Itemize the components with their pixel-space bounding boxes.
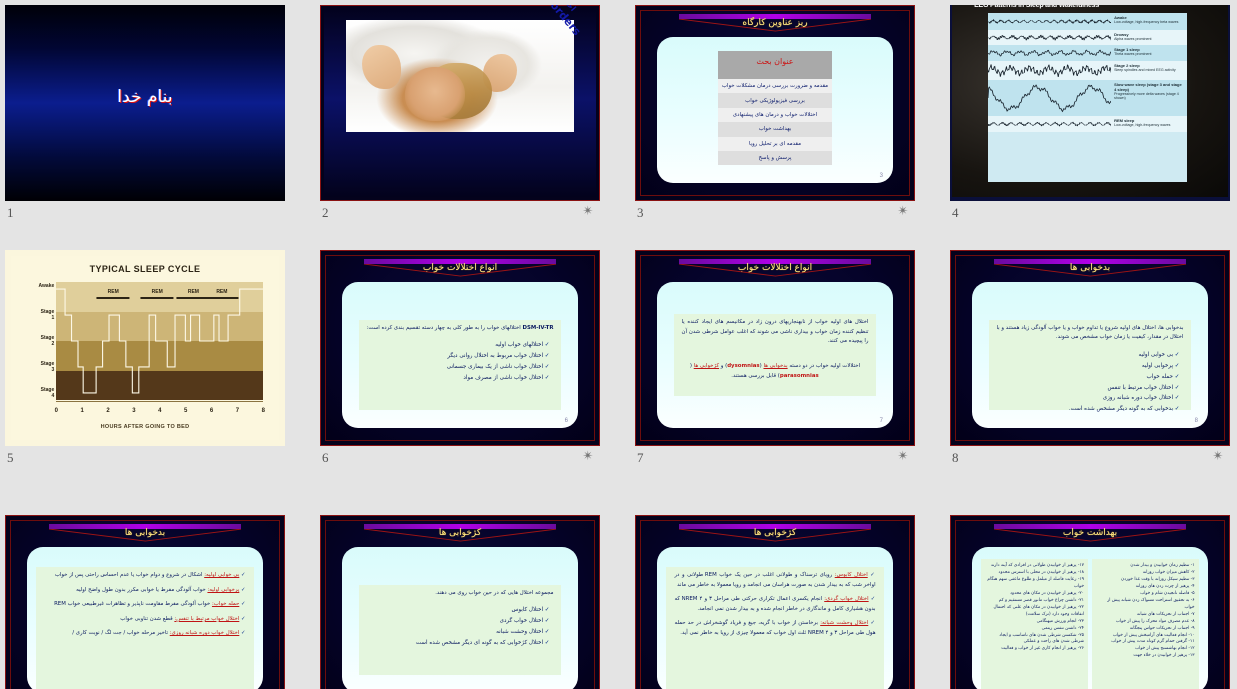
definition-list: ✓ بی خوابی اولیه: اشکال در شروع و دوام خ…	[36, 567, 253, 647]
slide-thumbnail[interactable]: بدخوابی ها ✓ بی خوابی اولیه: اشکال در شر…	[5, 515, 285, 689]
definition-term: اختلال خواب گردی:	[824, 596, 868, 602]
bullet-item: ✓ پرخوابی اولیه	[997, 361, 1180, 372]
slide-content-panel: DSM-IV-TR اختلالهای خواب را به طور کلی ب…	[342, 282, 578, 428]
check-icon: ✓	[1175, 374, 1180, 380]
slide-thumbnail-cell[interactable]: کژخوابی ها ✓ اختلال کابوس: رویای ترسناک …	[635, 515, 915, 689]
check-icon: ✓	[545, 640, 550, 646]
hygiene-item: ۲۰- پرهیز از خوابیدن در مکان های محدود	[985, 591, 1084, 598]
term-dysomnias-en: dysomnias	[727, 362, 759, 371]
slide-canvas: بدخوابی ها بدخوابی ها، اختلال های اولیه …	[950, 250, 1230, 446]
hygiene-item: ۱۲- انجام بهاشستج پیش از خواب	[1096, 646, 1195, 653]
definition-text: خواب آلودگی مفرط یا خوابی مکرر بدون طول …	[76, 587, 206, 593]
two-column-layout: ۱- تنظیم زمان خوابیدن و بیدار شدن۲- کاهش…	[981, 559, 1198, 689]
bullet-item: ✓ اختلال وحشت شبانه	[367, 627, 550, 638]
slide-inner-frame: انواع اختلالات خواب DSM-IV-TR اختلالهای …	[325, 255, 595, 441]
eeg-stage-desc: Sleep spindles and mixed EEG activity	[1114, 68, 1176, 72]
animation-star-icon[interactable]: ✴	[897, 450, 909, 462]
slide-title: بدخوابی ها	[956, 263, 1224, 273]
slide-title: انواع اختلالات خواب	[641, 263, 909, 273]
photo-face	[405, 67, 464, 121]
definition-item: ✓ پرخوابی اولیه: خواب آلودگی مفرط یا خوا…	[44, 586, 245, 595]
hygiene-item: ۸- عدم مصرف مواد محرک را پیش از خواب	[1096, 619, 1195, 626]
hypnogram-y-label: Awake	[39, 284, 55, 290]
hypnogram-y-label: Stage1	[41, 310, 55, 322]
content-pane: ✓ اختلال کابوس: رویای ترسناک و طولانی اغ…	[666, 567, 883, 689]
slide-inner-frame: ریز عناوین کارگاه عنوان بحث مقدمه و ضرور…	[640, 10, 910, 196]
check-icon: ✓	[871, 596, 876, 602]
check-icon: ✓	[241, 616, 246, 622]
content-pane: بدخوابی ها، اختلال های اولیه شروع یا تدا…	[989, 320, 1192, 411]
slide-page-number: 3	[880, 173, 883, 179]
slide-number: 5	[7, 450, 14, 466]
hygiene-item: ۲۴- داشتن تنفس ریتمی	[985, 626, 1084, 633]
slide-thumbnail-cell[interactable]: بدخوابی ها بدخوابی ها، اختلال های اولیه …	[950, 250, 1230, 476]
eeg-chart: Awake Low-voltage, high-frequency beta w…	[988, 13, 1187, 182]
slide-title: ریز عناوین کارگاه	[641, 18, 909, 28]
eeg-stage-desc: Theta waves prominent	[1114, 52, 1151, 56]
slide-title: بهداشت خواب	[956, 528, 1224, 538]
hygiene-item: ۲۲- پرهیز از خوابیدن در مکان های علنی که…	[985, 605, 1084, 619]
eeg-label: Slow wave sleep (stage 3 and stage 4 sle…	[1111, 80, 1187, 116]
slide-content-panel: اختلال های اولیه خواب از نابهنجاریهای در…	[657, 282, 893, 428]
slide-content-panel: عنوان بحث مقدمه و ضرورت بررسی درمان مشکل…	[657, 37, 893, 183]
slide-thumbnail-cell[interactable]: بدخوابی ها ✓ بی خوابی اولیه: اشکال در شر…	[5, 515, 285, 689]
slide-thumbnail-cell[interactable]: TYPICAL SLEEP CYCLE AwakeStage1Stage2Sta…	[5, 250, 285, 476]
slide-thumbnail-cell[interactable]: بنام خدا 1	[5, 5, 285, 231]
slide-canvas: ریز عناوین کارگاه عنوان بحث مقدمه و ضرور…	[635, 5, 915, 201]
check-icon: ✓	[241, 572, 246, 578]
bullets-intro: DSM-IV-TR اختلالهای خواب را به طور کلی ب…	[359, 320, 562, 337]
slide-inner-frame: بدخوابی ها ✓ بی خوابی اولیه: اشکال در شر…	[10, 520, 280, 689]
check-icon: ✓	[545, 342, 550, 348]
body-paragraph: اختلال های اولیه خواب از نابهنجاریهای در…	[674, 314, 877, 350]
check-icon: ✓	[241, 630, 246, 636]
eeg-waveform	[988, 30, 1111, 45]
definition-term: بی خوابی اولیه:	[204, 572, 239, 578]
photo-hand-left	[362, 45, 401, 90]
slide-thumbnail[interactable]: کژخوابی ها مجموعه اختلال هایی که در حین …	[320, 515, 600, 689]
definition-term: اختلال خواب مرتبط با تنفس:	[174, 616, 239, 622]
bullet-item: ✓ حمله خواب	[997, 372, 1180, 383]
slide-thumbnail-cell[interactable]: EEG Patterns in Sleep and Wakefulness Aw…	[950, 5, 1230, 231]
eeg-waveform	[988, 80, 1111, 116]
check-icon: ✓	[1175, 395, 1180, 401]
content-pane: DSM-IV-TR اختلالهای خواب را به طور کلی ب…	[359, 320, 562, 411]
slide-content-panel: ۱- تنظیم زمان خوابیدن و بیدار شدن۲- کاهش…	[972, 547, 1208, 689]
bullet-item: ✓ بی خوابی اولیه	[997, 350, 1180, 361]
eeg-waveform	[988, 61, 1111, 80]
slide-thumbnail-cell[interactable]: ریز عناوین کارگاه عنوان بحث مقدمه و ضرور…	[635, 5, 915, 231]
toc-row: بررسی فیزیولوژیکی خواب	[718, 93, 831, 107]
content-pane: مجموعه اختلال هایی که در حین خواب روی می…	[359, 585, 562, 676]
hygiene-item: ۵- فاصله نانجیدن شام و خواب	[1096, 591, 1195, 598]
slide-thumbnail[interactable]: ریز عناوین کارگاه عنوان بحث مقدمه و ضرور…	[635, 5, 915, 201]
slide-thumbnail-cell[interactable]: بهداشت خواب ۱- تنظیم زمان خوابیدن و بیدا…	[950, 515, 1230, 689]
hypnogram-x-tick: 2	[106, 408, 109, 414]
hygiene-item: ۱۷- پرهیز از خوابیدن طولانی در افرادی که…	[985, 563, 1084, 570]
check-icon: ✓	[1175, 363, 1180, 369]
terms-note: اختلالات اولیه خواب در دو دسته بدخوابی ه…	[674, 350, 877, 385]
check-icon: ✓	[241, 587, 246, 593]
slide-thumbnail[interactable]: اختلالات خواب Sleep Disorders	[320, 5, 600, 201]
hygiene-item: ۶- به تحقیق استراحت مسواک زدن شبانه پیش …	[1096, 598, 1195, 612]
eeg-row: Drowsy Alpha waves prominent	[988, 30, 1187, 45]
slide-canvas: بهداشت خواب ۱- تنظیم زمان خوابیدن و بیدا…	[950, 515, 1230, 689]
toc-row: مقدمه و ضرورت بررسی درمان مشکلات خواب	[718, 79, 831, 93]
bullet-item: ✓ بدخوابی که به گونه دیگر مشخص شده است.	[997, 404, 1180, 415]
check-icon: ✓	[871, 620, 876, 626]
eeg-slide-canvas: EEG Patterns in Sleep and Wakefulness Aw…	[950, 5, 1230, 201]
bullet-item: ✓ اختلال خواب مربوط به اختلال روانی دیگر	[367, 351, 550, 362]
content-pane: ✓ بی خوابی اولیه: اشکال در شروع و دوام خ…	[36, 567, 253, 689]
toc-row: اختلالات خواب و درمان های پیشنهادی	[718, 108, 831, 122]
eeg-label: Stage 1 sleep Theta waves prominent	[1111, 45, 1187, 61]
definition-item: ✓ حمله خواب: خواب آلودگی مفرط مقاومت ناپ…	[44, 600, 245, 609]
hygiene-item: ۴- پرهیز از چرت زدن های روزانه	[1096, 584, 1195, 591]
hypnogram-x-tick: 3	[132, 408, 135, 414]
hypnogram-trace	[56, 282, 263, 400]
hypnogram-y-label: Stage4	[41, 388, 55, 400]
eeg-waveform	[988, 116, 1111, 132]
eeg-stage-desc: Alpha waves prominent	[1114, 37, 1151, 41]
hygiene-item: ۱- تنظیم زمان خوابیدن و بیدار شدن	[1096, 563, 1195, 570]
check-icon: ✓	[241, 601, 246, 607]
eeg-waveform	[988, 45, 1111, 61]
definition-item: ✓ اختلال خواب دوره شبانه روزی: تاخیر مرح…	[44, 629, 245, 638]
bullet-list: ✓ اختلال کابوس✓ اختلال خواب گردی✓ اختلال…	[359, 602, 562, 654]
eeg-row: Stage 2 sleep Sleep spindles and mixed E…	[988, 61, 1187, 80]
term-dysomnias-fa: بدخوابی ها	[763, 363, 787, 369]
hypnogram-slide-canvas: TYPICAL SLEEP CYCLE AwakeStage1Stage2Sta…	[5, 250, 285, 446]
definition-item: ✓ اختلال خواب مرتبط با تنفس: قطع شدن تنا…	[44, 615, 245, 624]
photo-slide-background: اختلالات خواب Sleep Disorders	[324, 9, 596, 197]
definition-term: اختلال کابوس:	[835, 572, 868, 578]
slide-thumbnail[interactable]: بنام خدا	[5, 5, 285, 201]
hypnogram-x-label: HOURS AFTER GOING TO BED	[11, 424, 280, 430]
hygiene-item: ۲- کاهش میزان خواب روزانه	[1096, 570, 1195, 577]
hygiene-item: ۱۹- رعایت فاصله از مبلمل و طلوع ماعفی سه…	[985, 577, 1084, 591]
eeg-photo-frame: EEG Patterns in Sleep and Wakefulness Aw…	[952, 5, 1228, 197]
hygiene-item: ۲۶- پرهیز از انجام کاری غیر از خواب و فع…	[985, 646, 1084, 653]
slide-canvas: کژخوابی ها ✓ اختلال کابوس: رویای ترسناک …	[635, 515, 915, 689]
slide-title: بدخوابی ها	[11, 528, 279, 538]
hygiene-item: ۲۳- انجام ورزش میهنگامی	[985, 619, 1084, 626]
slide-title: کژخوابی ها	[326, 528, 594, 538]
slide-thumbnail-cell[interactable]: انواع اختلالات خواب اختلال های اولیه خوا…	[635, 250, 915, 476]
bullet-item: ✓ اختلال خواب مرتبط با تنفس	[997, 383, 1180, 394]
eeg-stage-desc: Low-voltage, high-frequency waves	[1114, 123, 1170, 127]
hygiene-item: ۱۳- پرهیز از خوابیدن در خلاء جهت	[1096, 653, 1195, 660]
definition-text: قطع شدن تناوبی خواب	[120, 616, 172, 622]
title-slide-text: بنام خدا	[5, 87, 285, 107]
bullets-intro: مجموعه اختلال هایی که در حین خواب روی می…	[359, 585, 562, 602]
hypnogram-y-axis: AwakeStage1Stage2Stage3Stage4	[21, 282, 56, 400]
animation-star-icon[interactable]: ✴	[582, 450, 594, 462]
definition-text: اشکال در شروع و دوام خواب یا عدم احساس ر…	[55, 572, 203, 578]
slide-number: 3	[637, 205, 644, 221]
bullet-item: ✓ اختلال کژخوابی که به گونه ای دیگر مشخص…	[367, 638, 550, 649]
definition-item: ✓ اختلال کابوس: رویای ترسناک و طولانی اغ…	[674, 571, 875, 590]
slide-inner-frame: بهداشت خواب ۱- تنظیم زمان خوابیدن و بیدا…	[955, 520, 1225, 689]
bullet-item: ✓ اختلال خواب ناشی از یک بیماری جسمانی	[367, 362, 550, 373]
dsm-code: DSM-IV-TR	[522, 324, 553, 333]
slide-number: 2	[322, 205, 329, 221]
hypnogram-card: TYPICAL SLEEP CYCLE AwakeStage1Stage2Sta…	[11, 256, 280, 440]
bullet-item: ✓ اختلال خواب دوره شبانه روزی	[997, 393, 1180, 404]
eeg-stage-desc: Progressively more delta waves (stage 4 …	[1114, 92, 1179, 100]
check-icon: ✓	[545, 364, 550, 370]
eeg-row: REM sleep Low-voltage, high-frequency wa…	[988, 116, 1187, 132]
slide-number: 6	[322, 450, 329, 466]
bullets-intro: بدخوابی ها، اختلال های اولیه شروع یا تدا…	[989, 320, 1192, 347]
hypnogram-x-tick: 6	[210, 408, 213, 414]
check-icon: ✓	[1175, 352, 1180, 358]
slide-canvas: کژخوابی ها مجموعه اختلال هایی که در حین …	[320, 515, 600, 689]
toc-row: مقدمه ای بر تحلیل رویا	[718, 137, 831, 151]
eeg-label: Stage 2 sleep Sleep spindles and mixed E…	[1111, 61, 1187, 80]
slide-number: 8	[952, 450, 959, 466]
slide-canvas: انواع اختلالات خواب DSM-IV-TR اختلالهای …	[320, 250, 600, 446]
photo-slide-canvas: اختلالات خواب Sleep Disorders	[320, 5, 600, 201]
definition-text: خواب آلودگی مفرط مقاومت ناپذیر و تظاهرات…	[54, 601, 210, 607]
definition-term: حمله خواب:	[212, 601, 239, 607]
term-parasomnias-en: parasomnias	[780, 372, 819, 381]
definition-term: پرخوابی اولیه:	[207, 587, 239, 593]
hygiene-item: ۱۸- پرهیز از خوابیدن در محلی با استرس مح…	[985, 570, 1084, 577]
toc-row: پرسش و پاسخ	[718, 151, 831, 165]
hypnogram-x-tick: 7	[236, 408, 239, 414]
slide-thumbnail-cell[interactable]: اختلالات خواب Sleep Disorders 2✴	[320, 5, 600, 231]
animation-star-icon[interactable]: ✴	[582, 205, 594, 217]
content-pane: اختلال های اولیه خواب از نابهنجاریهای در…	[674, 314, 877, 396]
bullet-item: ✓ اختلال کابوس	[367, 605, 550, 616]
title-slide-background: بنام خدا	[5, 5, 285, 201]
slide-thumbnail-cell[interactable]: انواع اختلالات خواب DSM-IV-TR اختلالهای …	[320, 250, 600, 476]
definition-text: تاخیر مرحله خواب / جت لگ / نوبت کاری /	[72, 630, 168, 636]
hygiene-item: ۷- اجتناب از تحریکات های شبانه	[1096, 612, 1195, 619]
eeg-stage-name: Slow wave sleep (stage 3 and stage 4 sle…	[1114, 82, 1185, 92]
check-icon: ✓	[545, 607, 550, 613]
slide-inner-frame: بدخوابی ها بدخوابی ها، اختلال های اولیه …	[955, 255, 1225, 441]
hygiene-item: ۹- اجتناب از تحریکات حواس پنجگانه	[1096, 626, 1195, 633]
bullet-item: ✓ اختلال خواب گردی	[367, 616, 550, 627]
eeg-label: Awake Low-voltage, high-frequency beta w…	[1111, 13, 1187, 30]
slide-sorter-grid: بنام خدا 1 اختلالات خواب Sleep Disorders…	[0, 0, 1237, 689]
hygiene-item: ۲۵- شکستن شرطی شدن های نامناسب و ایجاد ش…	[985, 633, 1084, 647]
eeg-row: Slow wave sleep (stage 3 and stage 4 sle…	[988, 80, 1187, 116]
animation-star-icon[interactable]: ✴	[1212, 450, 1224, 462]
slide-thumbnail[interactable]: بهداشت خواب ۱- تنظیم زمان خوابیدن و بیدا…	[950, 515, 1230, 689]
slide-thumbnail[interactable]: کژخوابی ها ✓ اختلال کابوس: رویای ترسناک …	[635, 515, 915, 689]
hypnogram-x-tick: 8	[262, 408, 265, 414]
slide-number: 1	[7, 205, 14, 221]
slide-thumbnail[interactable]: EEG Patterns in Sleep and Wakefulness Aw…	[950, 5, 1230, 201]
hypnogram-x-tick: 0	[55, 408, 58, 414]
slide-title: انواع اختلالات خواب	[326, 263, 594, 273]
bullet-item: ✓ اختلال خواب ناشی از مصرف مواد	[367, 373, 550, 384]
definition-item: ✓ اختلال وحشت شبانه: برخاستن از خواب با …	[674, 619, 875, 638]
eeg-row: Stage 1 sleep Theta waves prominent	[988, 45, 1187, 61]
slide-thumbnail[interactable]: انواع اختلالات خواب اختلال های اولیه خوا…	[635, 250, 915, 446]
definition-list: ✓ اختلال کابوس: رویای ترسناک و طولانی اغ…	[666, 567, 883, 647]
check-icon: ✓	[545, 618, 550, 624]
slide-title: کژخوابی ها	[641, 528, 909, 538]
hypnogram-x-tick: 5	[184, 408, 187, 414]
definition-term: اختلال خواب دوره شبانه روزی:	[170, 630, 240, 636]
check-icon: ✓	[870, 572, 875, 578]
slide-content-panel: مجموعه اختلال هایی که در حین خواب روی می…	[342, 547, 578, 689]
hypnogram-x-axis: 012345678	[56, 402, 263, 414]
slide-content-panel: ✓ بی خوابی اولیه: اشکال در شروع و دوام خ…	[27, 547, 263, 689]
hypnogram-y-label: Stage2	[41, 336, 55, 348]
eeg-label: REM sleep Low-voltage, high-frequency wa…	[1111, 116, 1187, 132]
hypnogram-y-label: Stage3	[41, 362, 55, 374]
slide-number: 4	[952, 205, 959, 221]
eeg-slide-title: EEG Patterns in Sleep and Wakefulness	[974, 5, 1099, 9]
slide-page-number: 7	[880, 418, 883, 424]
hypnogram-plot: REM REM REM REM	[56, 282, 263, 400]
slide-thumbnail-cell[interactable]: کژخوابی ها مجموعه اختلال هایی که در حین …	[320, 515, 600, 689]
check-icon: ✓	[1175, 385, 1180, 391]
toc-table: عنوان بحث مقدمه و ضرورت بررسی درمان مشکل…	[718, 51, 831, 165]
bullet-item: ✓ اختلالهای خواب اولیه	[367, 340, 550, 351]
hygiene-item: ۱۱- گرفتن حمام گرم کوتاه مدت پیش از خواب	[1096, 639, 1195, 646]
slide-content-panel: ✓ اختلال کابوس: رویای ترسناک و طولانی اغ…	[657, 547, 893, 689]
slide-thumbnail[interactable]: بدخوابی ها بدخوابی ها، اختلال های اولیه …	[950, 250, 1230, 446]
eeg-row: Awake Low-voltage, high-frequency beta w…	[988, 13, 1187, 30]
slide-page-number: 6	[565, 418, 568, 424]
eeg-label: Drowsy Alpha waves prominent	[1111, 30, 1187, 45]
slide-inner-frame: انواع اختلالات خواب اختلال های اولیه خوا…	[640, 255, 910, 441]
bullet-list: ✓ بی خوابی اولیه✓ پرخوابی اولیه✓ حمله خو…	[989, 347, 1192, 420]
check-icon: ✓	[545, 375, 550, 381]
check-icon: ✓	[545, 629, 550, 635]
slide-page-number: 8	[1195, 418, 1198, 424]
slide-thumbnail[interactable]: TYPICAL SLEEP CYCLE AwakeStage1Stage2Sta…	[5, 250, 285, 446]
hypnogram-x-tick: 4	[158, 408, 161, 414]
hygiene-item: ۲۱- داشتن چراغ خواب مانور قصر مستقیم و ک…	[985, 598, 1084, 605]
definition-item: ✓ بی خوابی اولیه: اشکال در شروع و دوام خ…	[44, 571, 245, 580]
toc-row: بهداشت خواب	[718, 122, 831, 136]
slide-canvas: بدخوابی ها ✓ بی خوابی اولیه: اشکال در شر…	[5, 515, 285, 689]
hypnogram-title: TYPICAL SLEEP CYCLE	[11, 264, 280, 274]
slide-canvas: انواع اختلالات خواب اختلال های اولیه خوا…	[635, 250, 915, 446]
hypnogram-x-tick: 1	[80, 408, 83, 414]
hygiene-column-right: ۱- تنظیم زمان خوابیدن و بیدار شدن۲- کاهش…	[1092, 559, 1199, 689]
hygiene-column-left: ۱۷- پرهیز از خوابیدن طولانی در افرادی که…	[981, 559, 1088, 689]
hygiene-item: ۳- تنظیم سیکل روزانه با وقت غذا خوردن	[1096, 577, 1195, 584]
slide-content-panel: بدخوابی ها، اختلال های اولیه شروع یا تدا…	[972, 282, 1208, 428]
slide-inner-frame: کژخوابی ها ✓ اختلال کابوس: رویای ترسناک …	[640, 520, 910, 689]
check-icon: ✓	[1175, 406, 1180, 412]
eeg-waveform	[988, 13, 1111, 30]
slide-number: 7	[637, 450, 644, 466]
bullet-list: ✓ اختلالهای خواب اولیه✓ اختلال خواب مربو…	[359, 337, 562, 389]
slide-thumbnail[interactable]: انواع اختلالات خواب DSM-IV-TR اختلالهای …	[320, 250, 600, 446]
definition-item: ✓ اختلال خواب گردی: انجام یکسری اعمال تک…	[674, 595, 875, 614]
animation-star-icon[interactable]: ✴	[897, 205, 909, 217]
term-parasomnias-fa: کژخوابی ها	[694, 363, 719, 369]
check-icon: ✓	[545, 353, 550, 359]
slide-inner-frame: کژخوابی ها مجموعه اختلال هایی که در حین …	[325, 520, 595, 689]
definition-term: اختلال وحشت شبانه:	[820, 620, 868, 626]
eeg-stage-desc: Low-voltage, high-frequency beta waves	[1114, 20, 1178, 24]
toc-table-header: عنوان بحث	[718, 51, 831, 79]
